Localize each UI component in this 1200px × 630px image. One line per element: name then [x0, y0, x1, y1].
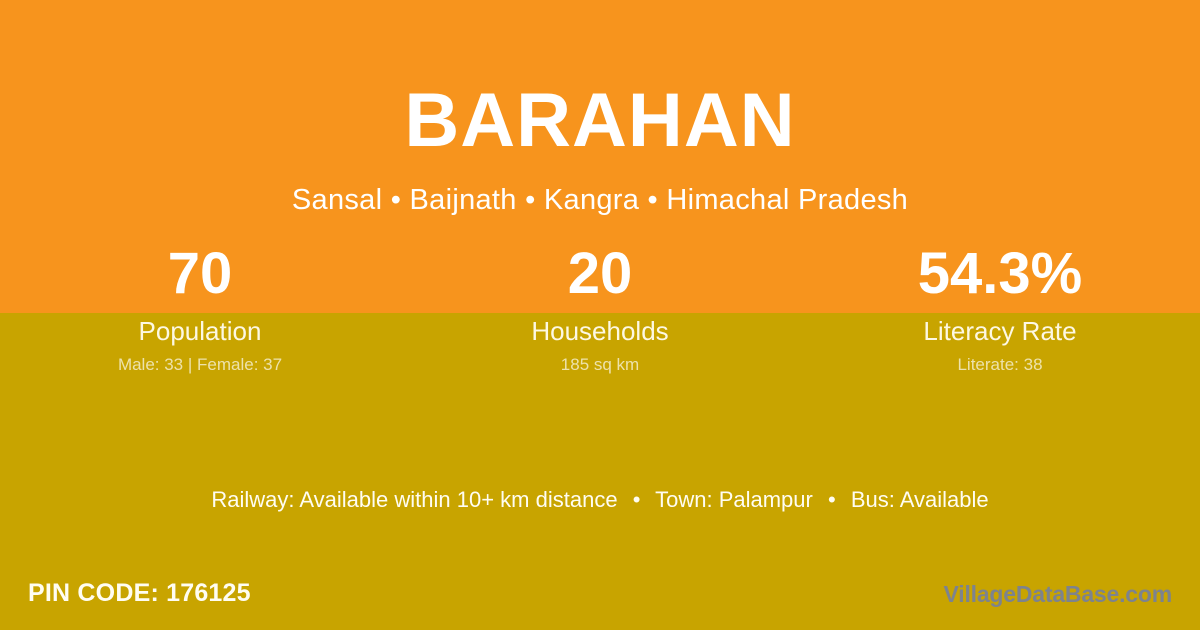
- page-title: BARAHAN: [0, 80, 1200, 162]
- stat-households: 20 Households 185 sq km: [400, 240, 800, 390]
- bullet-separator-icon: •: [624, 484, 650, 516]
- stat-sublabel: 185 sq km: [400, 354, 800, 376]
- facility-railway: Railway: Available within 10+ km distanc…: [211, 487, 617, 512]
- facility-bus: Bus: Available: [851, 487, 989, 512]
- facility-town: Town: Palampur: [655, 487, 813, 512]
- footer: PIN CODE: 176125 VillageDataBase.com: [0, 566, 1200, 630]
- pin-code-label: PIN CODE: 176125: [28, 578, 251, 608]
- stat-value: 20: [400, 240, 800, 313]
- stats-row: 70 Population Male: 33 | Female: 37 20 H…: [0, 240, 1200, 390]
- stat-sublabel: Male: 33 | Female: 37: [0, 354, 400, 376]
- stat-population: 70 Population Male: 33 | Female: 37: [0, 240, 400, 390]
- village-info-card: BARAHAN Sansal • Baijnath • Kangra • Him…: [0, 0, 1200, 630]
- bullet-separator-icon: •: [819, 484, 845, 516]
- stat-label: Households: [400, 315, 800, 347]
- stat-label: Literacy Rate: [800, 315, 1200, 347]
- stat-value: 54.3%: [800, 240, 1200, 313]
- facilities-row: Railway: Available within 10+ km distanc…: [0, 484, 1200, 516]
- stat-label: Population: [0, 315, 400, 347]
- breadcrumb: Sansal • Baijnath • Kangra • Himachal Pr…: [0, 182, 1200, 218]
- stat-value: 70: [0, 240, 400, 313]
- hero-section: BARAHAN Sansal • Baijnath • Kangra • Him…: [0, 0, 1200, 235]
- stat-literacy-rate: 54.3% Literacy Rate Literate: 38: [800, 240, 1200, 390]
- stat-sublabel: Literate: 38: [800, 354, 1200, 376]
- brand-watermark: VillageDataBase.com: [944, 579, 1172, 609]
